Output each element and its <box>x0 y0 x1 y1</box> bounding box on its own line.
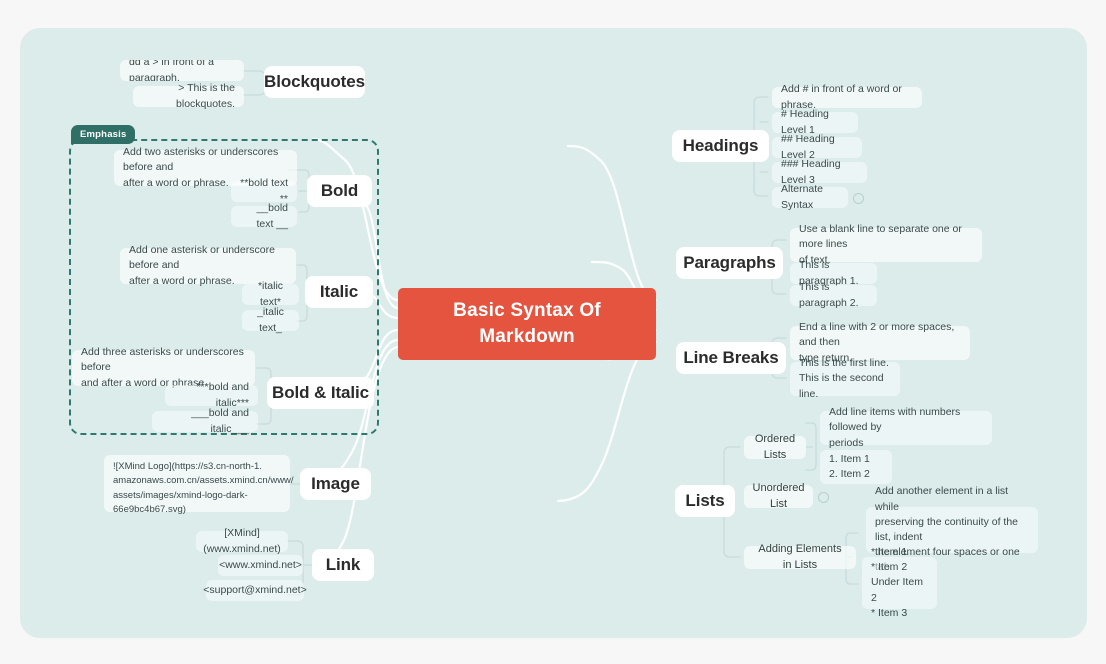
paragraphs-child-0[interactable]: Use a blank line to separate one or more… <box>790 228 982 262</box>
branch-blockquotes-label: Blockquotes <box>264 72 365 92</box>
branch-bold-italic[interactable]: Bold & Italic <box>267 377 374 409</box>
branch-line-breaks[interactable]: Line Breaks <box>676 342 786 374</box>
adding-elements-child-1-text: * Item 1 * Item 2 Under Item 2 * Item 3 <box>871 545 928 621</box>
lists-subbranch-unordered-list[interactable]: Unordered List <box>744 485 813 508</box>
branch-image[interactable]: Image <box>300 468 371 500</box>
bold-child-2-text: __bold text __ <box>240 201 288 231</box>
branch-headings[interactable]: Headings <box>672 130 769 162</box>
branch-link-label: Link <box>326 555 361 575</box>
blockquotes-child-1-text: > This is the blockquotes. <box>142 81 235 111</box>
lists-subbranch-unordered-list-label: Unordered List <box>753 481 805 513</box>
line-breaks-child-1-text: This is the first line. This is the seco… <box>799 356 891 402</box>
headings-child-0[interactable]: Add # in front of a word or phrase. <box>772 87 922 108</box>
ordered-lists-child-0[interactable]: Add line items with numbers followed by … <box>820 411 992 445</box>
bold-child-2[interactable]: __bold text __ <box>231 206 297 227</box>
lists-subbranch-ordered-lists-label: Ordered Lists <box>753 432 797 464</box>
ordered-lists-child-0-text: Add line items with numbers followed by … <box>829 405 983 451</box>
ordered-lists-child-1-text: 1. Item 1 2. Item 2 <box>829 452 870 482</box>
branch-bold[interactable]: Bold <box>307 175 372 207</box>
branch-italic-label: Italic <box>320 282 358 302</box>
line-breaks-child-1[interactable]: This is the first line. This is the seco… <box>790 362 900 396</box>
branch-bold-italic-label: Bold & Italic <box>272 383 369 403</box>
mindmap-stage: Emphasis Basic Syntax Of Markdown Blockq… <box>0 0 1106 664</box>
branch-blockquotes[interactable]: Blockquotes <box>264 66 365 98</box>
branch-lists-label: Lists <box>685 491 724 511</box>
ordered-lists-child-1[interactable]: 1. Item 1 2. Item 2 <box>820 450 892 484</box>
link-child-1-text: <www.xmind.net> <box>219 558 302 573</box>
blockquotes-child-1[interactable]: > This is the blockquotes. <box>133 86 244 107</box>
paragraphs-child-2-text: This is paragraph 2. <box>799 280 868 310</box>
italic-child-2-text: _italic text_ <box>251 305 290 335</box>
branch-italic[interactable]: Italic <box>305 276 373 308</box>
lists-subbranch-adding-elements[interactable]: Adding Elements in Lists <box>744 546 856 569</box>
headings-child-4[interactable]: Alternate Syntax <box>772 187 848 208</box>
link-child-1[interactable]: <www.xmind.net> <box>218 555 303 576</box>
italic-child-1[interactable]: *italic text* <box>242 284 299 305</box>
headings-child-1[interactable]: # Heading Level 1 <box>772 112 858 133</box>
blockquotes-child-0-text: dd a > in front of a paragraph. <box>129 60 235 81</box>
link-child-0-text: [XMind](www.xmind.net) <box>203 526 281 556</box>
italic-child-2[interactable]: _italic text_ <box>242 310 299 331</box>
lists-subbranch-adding-elements-label: Adding Elements in Lists <box>753 542 847 574</box>
link-child-2[interactable]: <support@xmind.net> <box>206 580 304 601</box>
central-topic[interactable]: Basic Syntax Of Markdown <box>398 288 656 360</box>
collapse-indicator-alternate-syntax[interactable] <box>853 193 864 204</box>
branch-line-breaks-label: Line Breaks <box>683 348 778 368</box>
collapse-indicator-unordered-list[interactable] <box>818 492 829 503</box>
bold-italic-child-2-text: ___bold and italic___ <box>161 406 249 436</box>
bold-italic-child-1[interactable]: ***bold and italic*** <box>165 385 258 406</box>
bold-italic-child-2[interactable]: ___bold and italic___ <box>152 411 258 432</box>
central-topic-label: Basic Syntax Of Markdown <box>453 298 601 349</box>
lists-subbranch-ordered-lists[interactable]: Ordered Lists <box>744 436 806 459</box>
boundary-label-text: Emphasis <box>80 129 126 140</box>
boundary-emphasis-label[interactable]: Emphasis <box>71 125 135 144</box>
adding-elements-child-1[interactable]: * Item 1 * Item 2 Under Item 2 * Item 3 <box>862 557 937 609</box>
branch-headings-label: Headings <box>683 136 759 156</box>
branch-paragraphs[interactable]: Paragraphs <box>676 247 783 279</box>
bold-child-1[interactable]: **bold text ** <box>231 181 297 202</box>
blockquotes-child-0[interactable]: dd a > in front of a paragraph. <box>120 60 244 81</box>
branch-bold-label: Bold <box>321 181 358 201</box>
image-child-0[interactable]: ![XMind Logo](https://s3.cn-north-1. ama… <box>104 455 290 512</box>
link-child-0[interactable]: [XMind](www.xmind.net) <box>196 531 288 552</box>
branch-image-label: Image <box>311 474 360 494</box>
line-breaks-child-0[interactable]: End a line with 2 or more spaces, and th… <box>790 326 970 360</box>
headings-child-2[interactable]: ## Heading Level 2 <box>772 137 862 158</box>
image-child-0-text: ![XMind Logo](https://s3.cn-north-1. ama… <box>113 460 294 517</box>
branch-link[interactable]: Link <box>312 549 374 581</box>
headings-child-3[interactable]: ### Heading Level 3 <box>772 162 867 183</box>
headings-child-4-text: Alternate Syntax <box>781 182 839 212</box>
link-child-2-text: <support@xmind.net> <box>203 583 306 598</box>
branch-lists[interactable]: Lists <box>675 485 735 517</box>
paragraphs-child-2[interactable]: This is paragraph 2. <box>790 285 877 306</box>
branch-paragraphs-label: Paragraphs <box>683 253 776 273</box>
